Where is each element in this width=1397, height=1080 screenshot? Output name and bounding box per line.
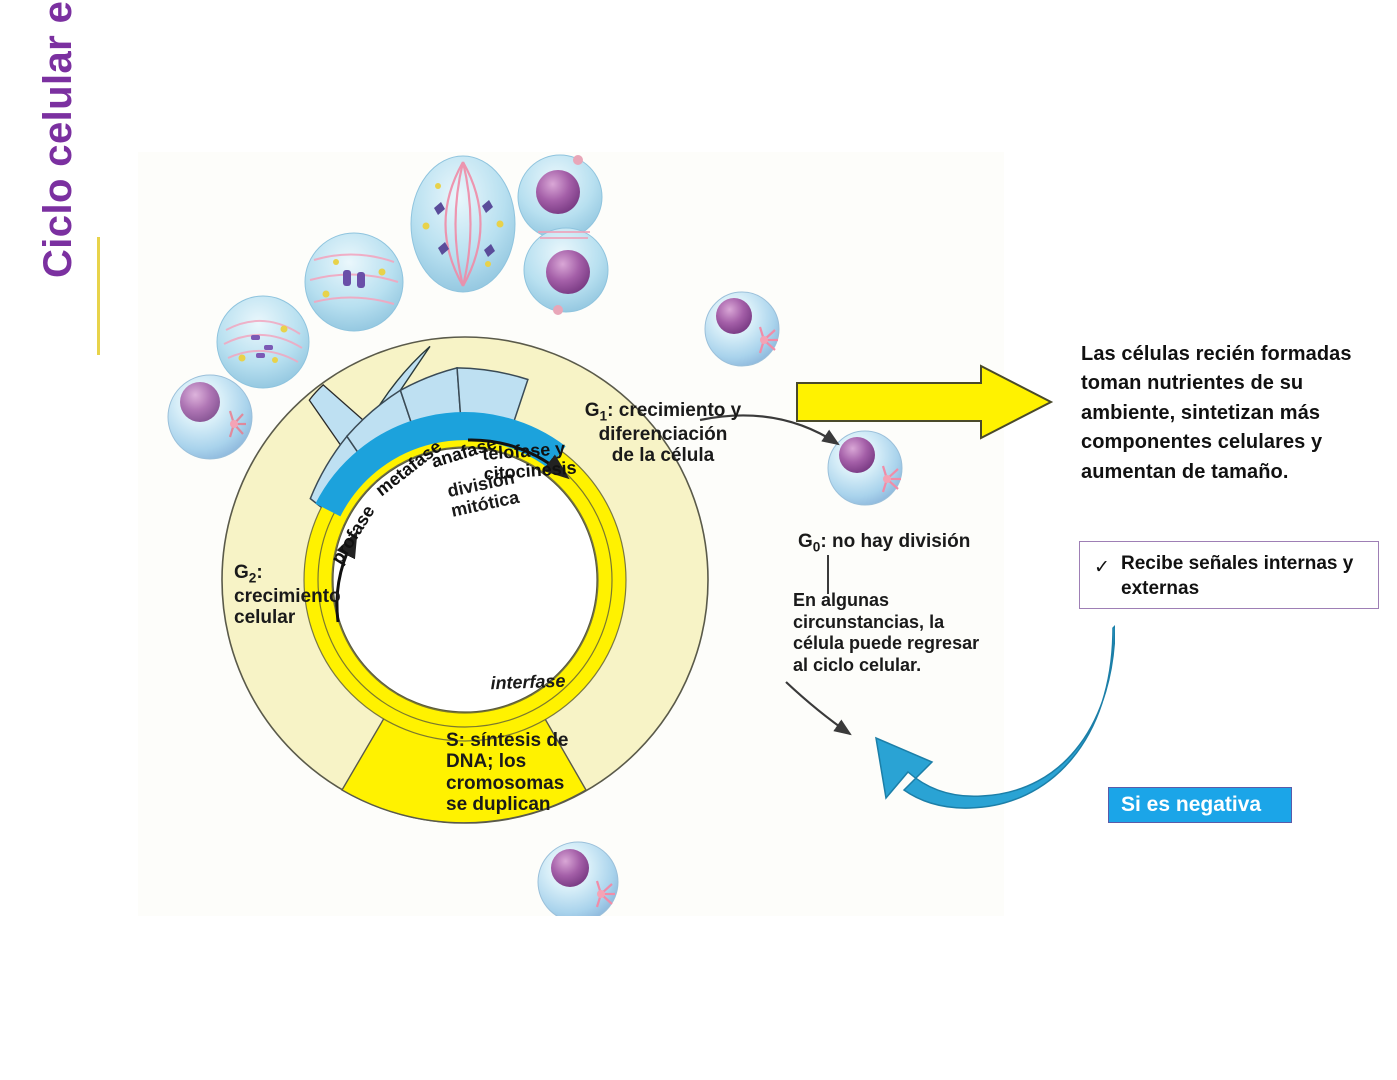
g2-symbol: G (234, 562, 249, 583)
phase-label-telofase: telofase y citocinesis (482, 438, 578, 485)
g1-text: : crecimiento y diferenciación de la cél… (599, 400, 742, 466)
g0-text: : no hay división (820, 531, 970, 552)
sector-label-g1: G1: crecimiento y diferenciación de la c… (558, 400, 768, 467)
title-divider-rule (97, 237, 100, 355)
cell-illustration-telophase (518, 155, 608, 315)
sector-label-g0: G0: no hay división (798, 531, 970, 555)
explanatory-paragraph: Las células recién formadas toman nutrie… (1081, 340, 1393, 487)
sector-label-g2: G2: crecimiento celular (234, 562, 384, 629)
cell-illustration-bottom (538, 842, 618, 916)
cell-illustration-g0-upper (705, 292, 779, 366)
checklist-box: ✓ Recibe señales internas y externas (1079, 541, 1379, 609)
cell-illustration-metaphase (305, 233, 403, 331)
page-title: Ciclo celular eucariótico (36, 0, 92, 278)
checklist-item-text: Recibe señales internas y externas (1121, 552, 1369, 601)
cell-illustration-prophase (217, 296, 309, 388)
cell-illustration-g0-lower (828, 431, 902, 505)
g0-symbol: G (798, 531, 813, 552)
curved-arrow-up-left-icon (870, 620, 1115, 820)
cell-illustration-anaphase (411, 156, 515, 292)
g1-subscript: 1 (600, 408, 608, 423)
check-icon: ✓ (1094, 556, 1110, 579)
arrow-right-icon (795, 363, 1055, 441)
sector-label-s: S: síntesis de DNA; los cromosomas se du… (446, 730, 626, 816)
g1-symbol: G (585, 400, 600, 421)
inner-ring-label-interphase: interfase (468, 670, 589, 695)
cell-illustration-interphase (168, 375, 252, 459)
status-badge-negative: Si es negativa (1108, 787, 1292, 823)
